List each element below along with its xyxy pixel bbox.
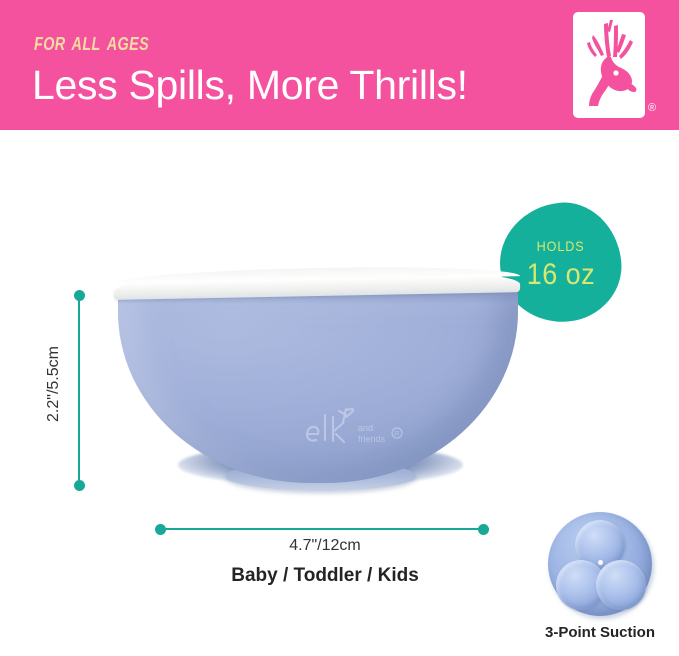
audience-label: Baby / Toddler / Kids: [155, 565, 495, 587]
width-endpoint-right-dot: [478, 524, 489, 535]
product-infographic: For All Ages Less Spills, More Thrills!: [0, 0, 679, 656]
bowl-body: [118, 288, 518, 483]
suction-callout: 3-Point Suction: [530, 512, 670, 654]
height-endpoint-top-dot: [74, 290, 85, 301]
badge-text-group: Holds 16 oz: [500, 203, 621, 322]
product-bowl-image: and friends R: [118, 268, 518, 508]
height-measurement-label: 2.2"/5.5cm: [45, 346, 63, 422]
badge-capacity-value: 16 oz: [526, 258, 594, 292]
badge-holds-label: Holds: [537, 234, 585, 257]
bowl-embossed-brand-logo: and friends R: [303, 405, 423, 453]
suction-label: 3-Point Suction: [530, 624, 670, 641]
suction-cup-right: [596, 560, 646, 610]
width-measurement-line: [161, 528, 489, 530]
elk-head-icon: [573, 12, 645, 118]
suction-center-highlight: [598, 560, 603, 565]
holds-capacity-badge: Holds 16 oz: [500, 203, 621, 322]
suction-base-image: [548, 512, 652, 616]
brand-logo: [573, 12, 645, 118]
svg-text:and: and: [358, 423, 373, 433]
svg-text:friends: friends: [358, 434, 386, 444]
width-endpoint-left-dot: [155, 524, 166, 535]
header-banner: For All Ages Less Spills, More Thrills!: [0, 0, 679, 130]
svg-text:R: R: [394, 431, 399, 438]
width-measurement: [155, 521, 495, 537]
width-measurement-label: 4.7"/12cm: [155, 537, 495, 555]
headline-text: Less Spills, More Thrills!: [32, 62, 468, 109]
eyebrow-text: For All Ages: [34, 28, 149, 57]
height-measurement: [70, 288, 88, 494]
logo-registered-mark: ®: [648, 102, 656, 114]
height-measurement-line: [78, 295, 80, 487]
height-endpoint-bottom-dot: [74, 480, 85, 491]
